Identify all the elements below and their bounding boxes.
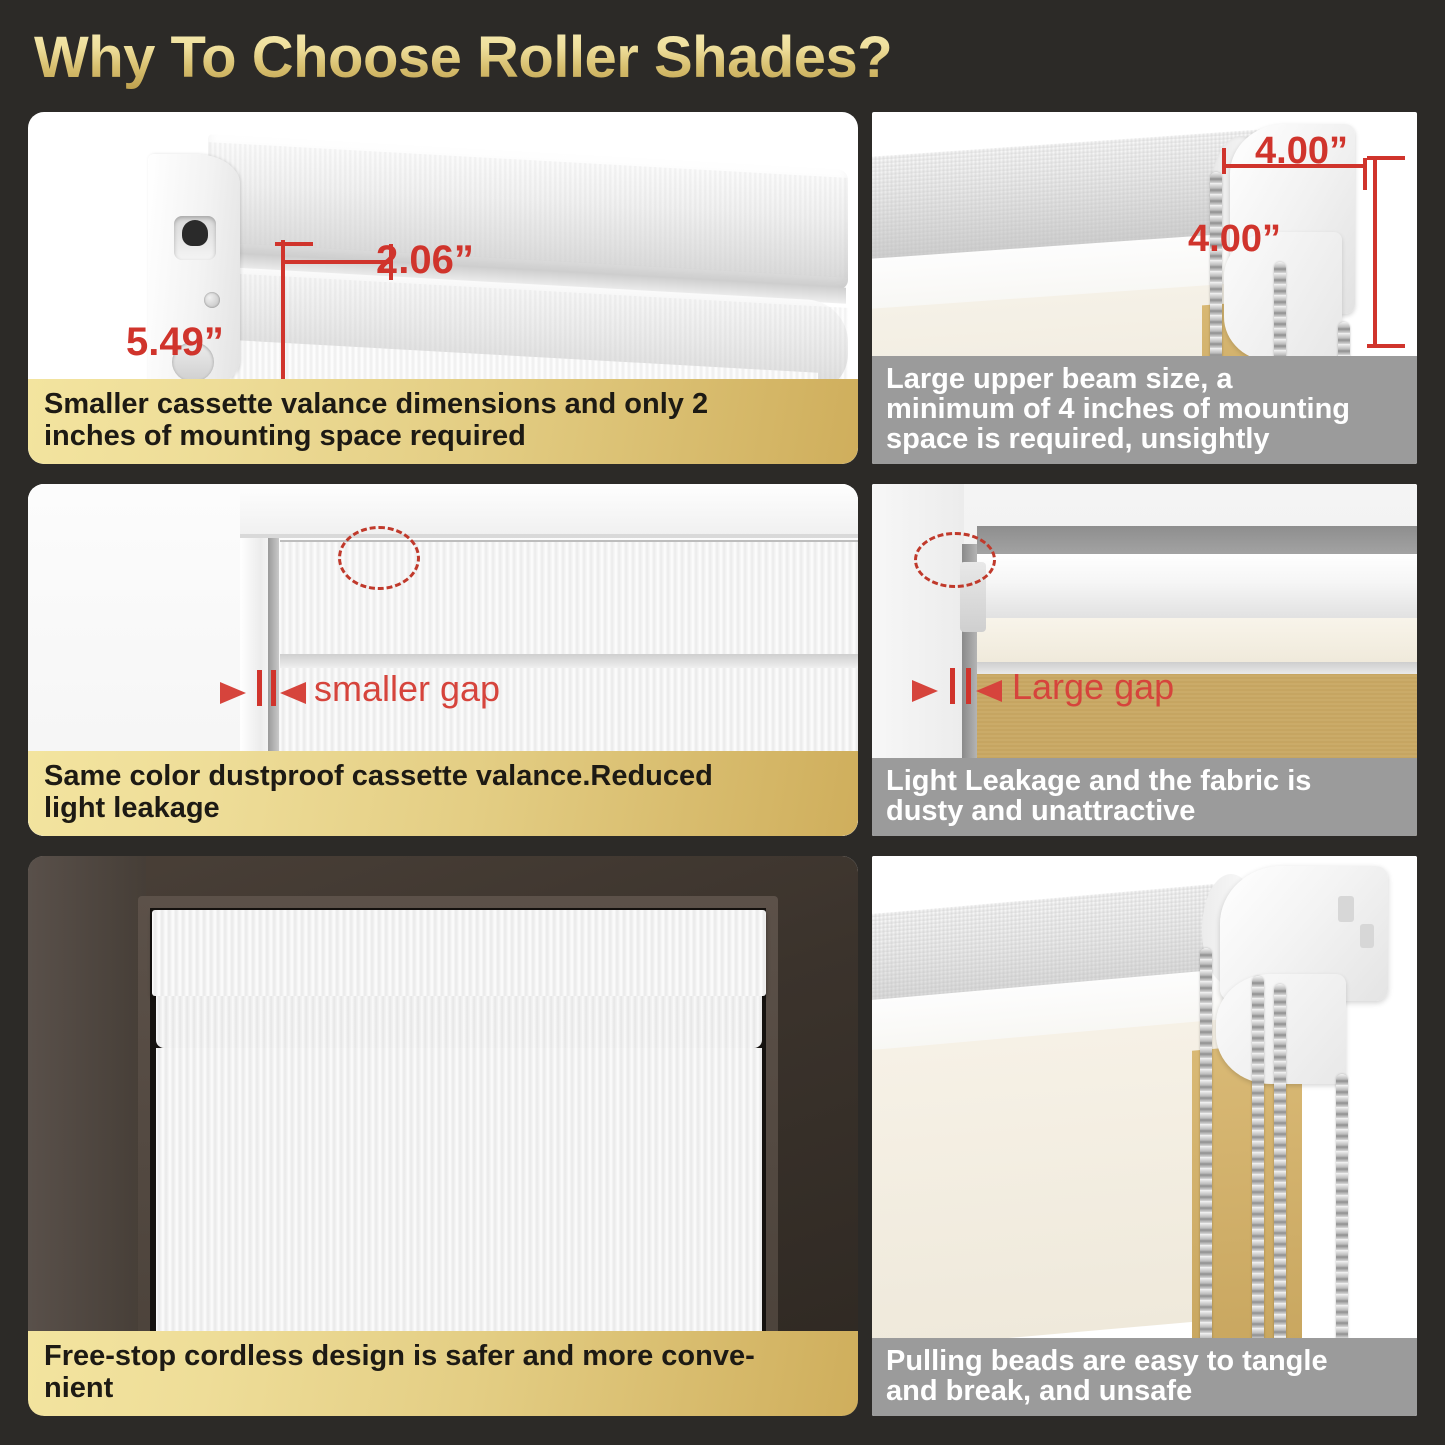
gap-marker-bar	[257, 670, 262, 706]
bead-chain-4	[1336, 1074, 1348, 1358]
caption-line-2: inches of mounting space required	[44, 421, 842, 452]
panel-cordless-window: Free-stop cordless design is safer and m…	[28, 856, 858, 1416]
panel-pull-beads: Pulling beads are easy to tangle and bre…	[872, 856, 1417, 1416]
caption-large-gap: Light Leakage and the fabric is dusty an…	[872, 758, 1417, 836]
cassette-valance	[152, 910, 766, 996]
window-frame-top	[240, 484, 858, 536]
bead-chain-2	[1252, 976, 1264, 1358]
caption-cassette-dimensions: Smaller cassette valance dimensions and …	[28, 379, 858, 464]
page-title: Why To Choose Roller Shades?	[34, 22, 1134, 94]
beam-width-right-tick	[1363, 158, 1367, 190]
highlight-ellipse-icon	[914, 532, 996, 588]
cassette-valance-illustration	[148, 148, 848, 388]
bead-chain-1	[1200, 948, 1212, 1358]
gap-callout-label: smaller gap	[314, 668, 500, 710]
caption-line-1: Smaller cassette valance dimensions and …	[44, 389, 842, 420]
panel-smaller-gap: smaller gap Same color dustproof cassett…	[28, 484, 858, 836]
gap-marker-bar-2	[966, 668, 971, 704]
fabric-cream	[977, 618, 1417, 666]
width-dimension-label: 2.06”	[376, 238, 474, 283]
caption-line-1: Light Leakage and the fabric is	[886, 766, 1405, 796]
gap-arrow-left-icon	[912, 680, 938, 702]
caption-line-2: nient	[44, 1373, 842, 1404]
highlight-ellipse-icon	[338, 526, 420, 590]
beam-height-bottom-tick	[1367, 344, 1405, 348]
infographic-root: Why To Choose Roller Shades?	[0, 0, 1445, 1445]
caption-cordless-window: Free-stop cordless design is safer and m…	[28, 1331, 858, 1416]
shade-fabric	[156, 1048, 762, 1378]
gap-arrow-left-icon	[220, 682, 246, 704]
caption-line-2: and break, and unsafe	[886, 1376, 1405, 1406]
gap-marker-bar-2	[271, 670, 276, 706]
pull-beads-photo	[872, 856, 1417, 1416]
caption-line-2: dusty and unattractive	[886, 796, 1405, 826]
beam-width-label: 4.00”	[1255, 130, 1348, 173]
bracket-notch	[1338, 896, 1354, 922]
caption-line-2: light leakage	[44, 793, 842, 824]
gap-arrow-right-icon	[280, 682, 306, 704]
bracket-notch	[1360, 924, 1374, 948]
caption-line-1: Free-stop cordless design is safer and m…	[44, 1341, 842, 1372]
end-cap-screw	[204, 292, 220, 308]
beam-height-label: 4.00”	[1188, 218, 1281, 261]
gap-marker-bar	[950, 668, 955, 704]
caption-large-beam: Large upper beam size, a minimum of 4 in…	[872, 356, 1417, 464]
height-dimension-label: 5.49”	[126, 320, 224, 365]
panel-cassette-dimensions: 2.06” 5.49” Smaller cassette valance dim…	[28, 112, 858, 464]
beam-width-left-tick	[1222, 148, 1226, 174]
caption-line-1: Large upper beam size, a	[886, 364, 1405, 394]
beam-height-top-tick	[1367, 156, 1405, 160]
panel-large-gap: Large gap Light Leakage and the fabric i…	[872, 484, 1417, 836]
caption-line-2: minimum of 4 inches of mounting	[886, 394, 1405, 424]
gap-arrow-right-icon	[976, 680, 1002, 702]
roller-tube	[977, 554, 1417, 624]
caption-line-1: Same color dustproof cassette valance.Re…	[44, 761, 842, 792]
caption-smaller-gap: Same color dustproof cassette valance.Re…	[28, 751, 858, 836]
gap-callout-label: Large gap	[1012, 666, 1174, 708]
caption-pull-beads: Pulling beads are easy to tangle and bre…	[872, 1338, 1417, 1416]
window-frame-edge	[240, 534, 858, 538]
dim-left-top-tick	[275, 242, 313, 246]
caption-line-1: Pulling beads are easy to tangle	[886, 1346, 1405, 1376]
caption-line-3: space is required, unsightly	[886, 424, 1405, 454]
panel-large-beam: 4.00” 4.00” Large upper beam size, a min…	[872, 112, 1417, 464]
valance-shadow-line	[280, 654, 858, 668]
end-cap-slot	[174, 216, 216, 260]
bead-chain-3	[1274, 984, 1286, 1358]
valance-lower-lip	[156, 996, 762, 1048]
beam-height-line	[1373, 156, 1377, 348]
